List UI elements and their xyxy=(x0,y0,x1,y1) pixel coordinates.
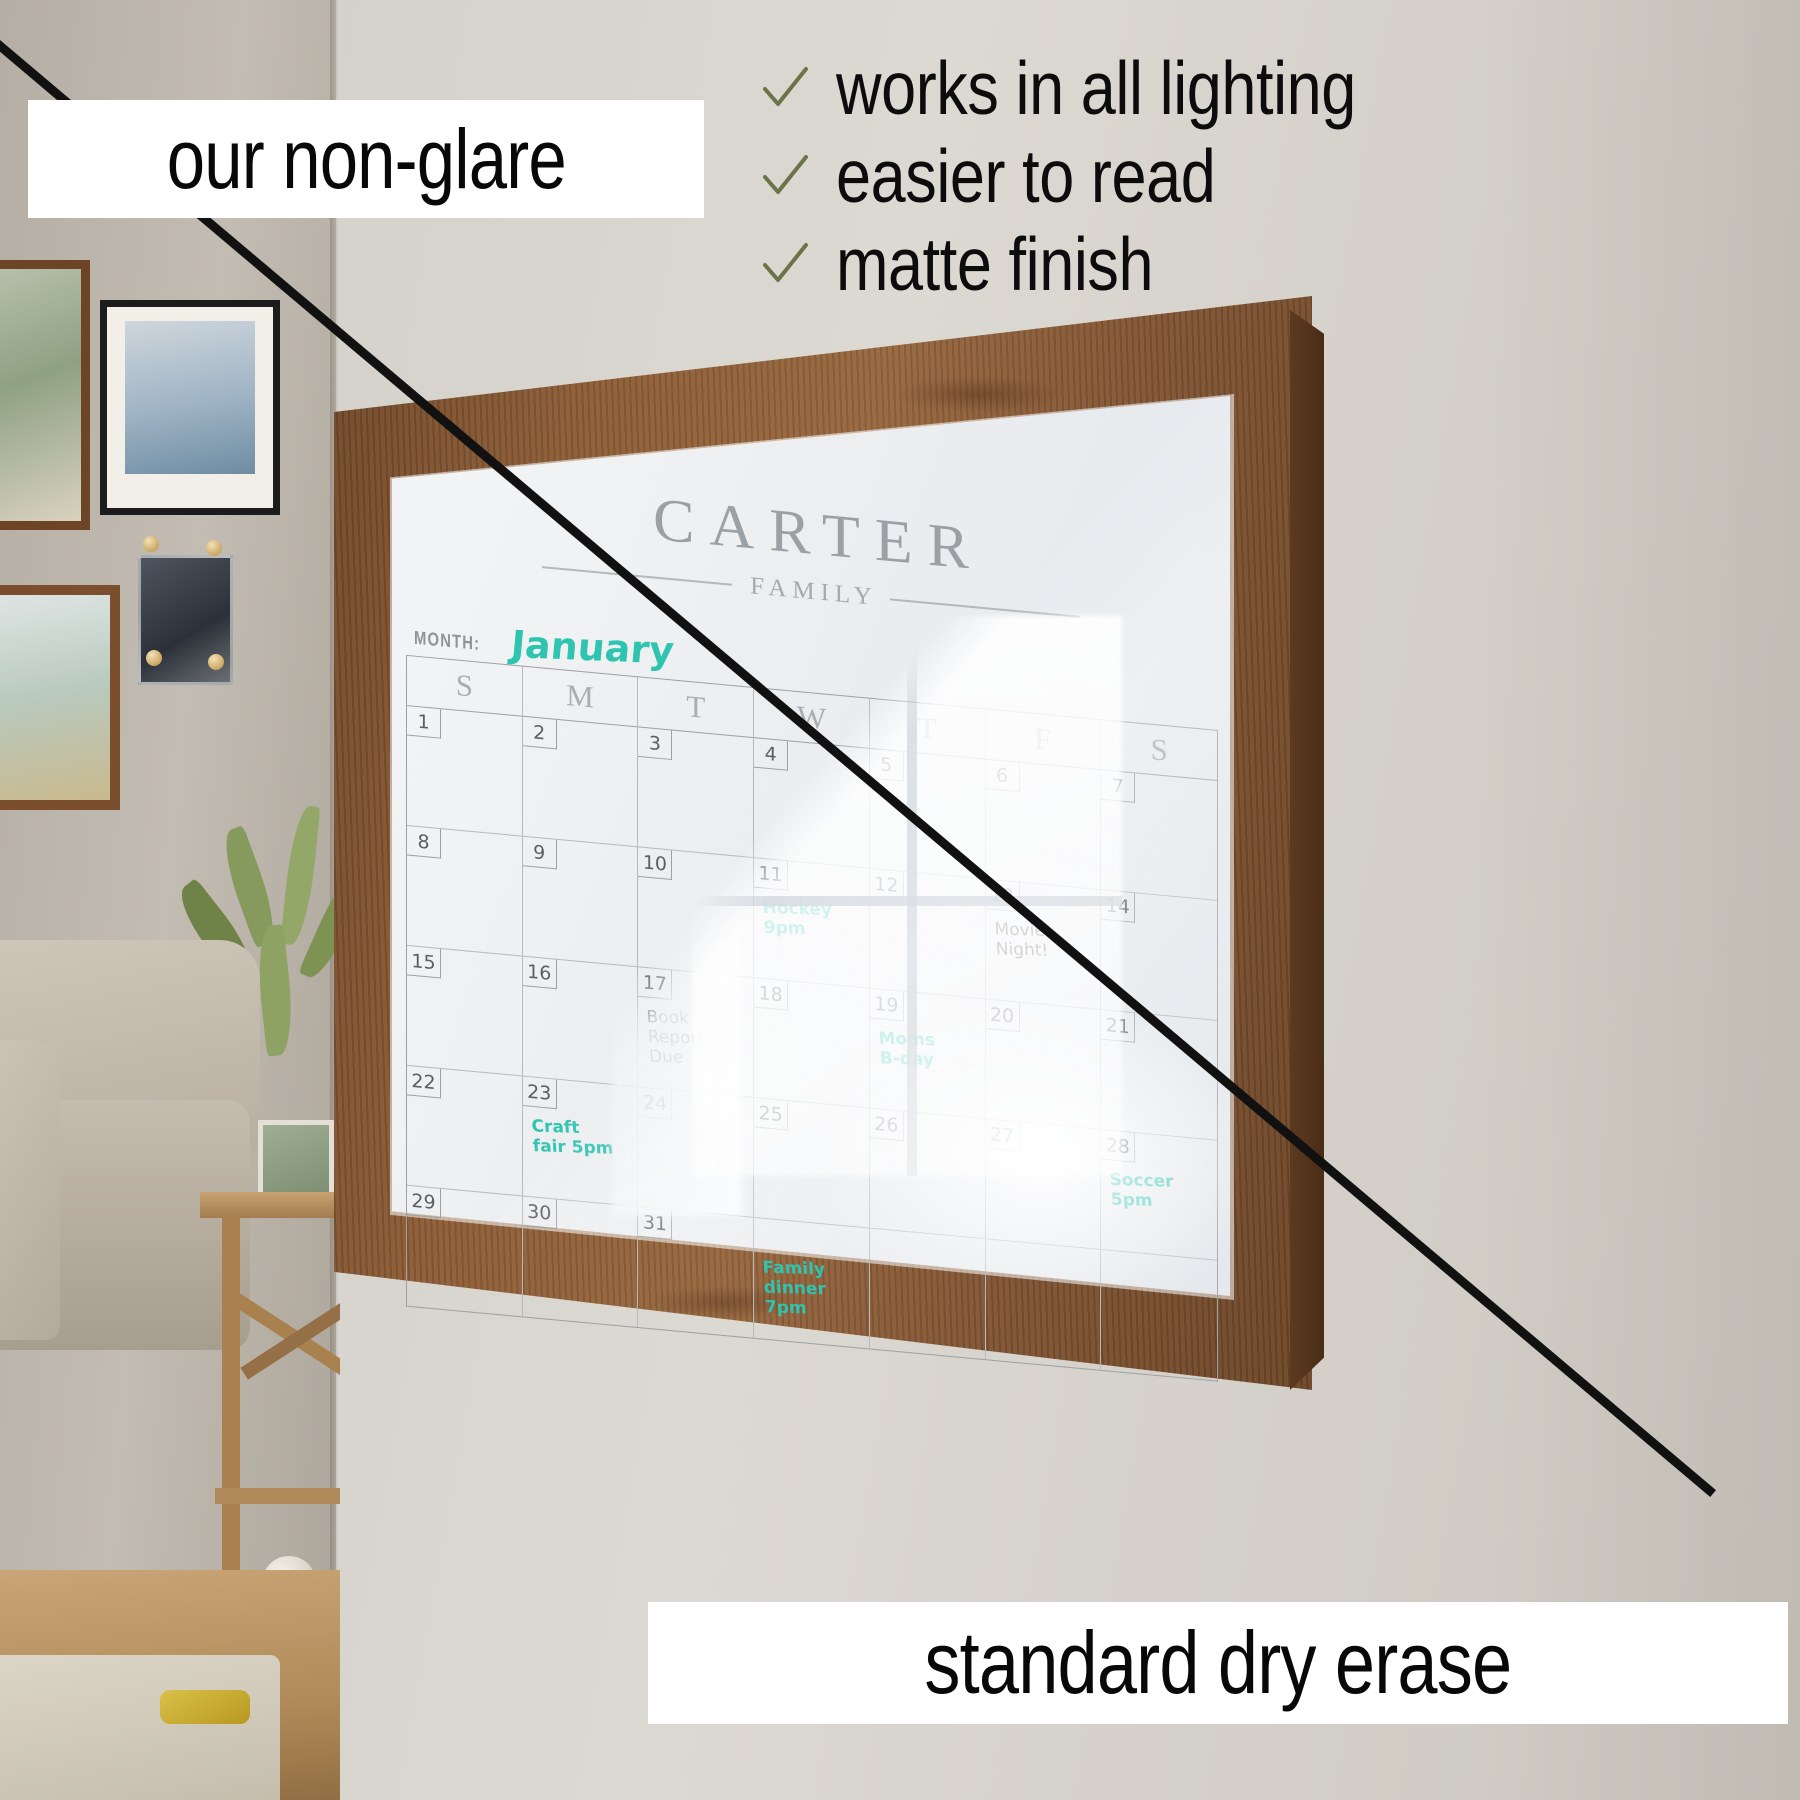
calendar-day-cell[interactable]: 20 xyxy=(986,999,1102,1130)
day-number: 1 xyxy=(407,706,441,739)
day-number: 31 xyxy=(638,1207,672,1240)
calendar-day-cell[interactable]: 24 xyxy=(638,1087,754,1218)
calendar-day-cell[interactable]: 9 xyxy=(523,837,639,968)
calendar-day-cell[interactable]: 12 xyxy=(870,869,986,1000)
brand-header: CARTER FAMILY xyxy=(392,465,1230,645)
day-number: 8 xyxy=(407,826,441,859)
check-icon xyxy=(760,239,810,289)
day-number: 2 xyxy=(523,717,557,750)
day-number: 19 xyxy=(870,989,904,1022)
calendar-day-cell[interactable]: 4 xyxy=(754,738,870,869)
handwritten-event-note: Craftfair 5pm xyxy=(531,1117,636,1160)
calendar-day-cell[interactable]: 28Soccer5pm xyxy=(1101,1130,1217,1261)
month-value[interactable]: January xyxy=(509,626,675,670)
calendar-day-cell[interactable]: 18 xyxy=(754,978,870,1109)
calendar-day-cell[interactable] xyxy=(986,1239,1102,1370)
feature-bullet-text: matte finish xyxy=(836,221,1153,307)
day-number: 18 xyxy=(754,978,788,1011)
calendar-day-cell[interactable]: 27 xyxy=(986,1119,1102,1250)
non-glare-label: our non-glare xyxy=(28,100,704,218)
handwritten-event-note: Book ReportDue xyxy=(646,1007,752,1070)
calendar-day-cell[interactable]: 8 xyxy=(407,826,523,957)
calendar-grid: SMTWTFS 1234567891011Hockey9pm1213Movie … xyxy=(406,655,1218,1382)
calendar-day-cell[interactable]: 25 xyxy=(754,1098,870,1229)
handwritten-event-note: Hockey9pm xyxy=(762,898,867,941)
marketing-image: CARTER FAMILY MONTH: January SMTWTFS 123… xyxy=(0,0,1800,1800)
calendar-day-cell[interactable]: 26 xyxy=(870,1109,986,1240)
calendar-day-cell[interactable]: 29 xyxy=(407,1186,523,1317)
day-number: 20 xyxy=(986,999,1020,1032)
calendar-day-cell[interactable]: 16 xyxy=(523,957,639,1088)
day-number: 27 xyxy=(986,1119,1020,1152)
day-number: 29 xyxy=(407,1186,441,1219)
day-number: 17 xyxy=(638,967,672,1000)
family-subtitle: FAMILY xyxy=(744,572,877,612)
day-number: 4 xyxy=(754,738,788,771)
calendar-day-cell[interactable]: 7 xyxy=(1101,770,1217,901)
calendar-day-cell[interactable]: 30 xyxy=(523,1196,639,1327)
day-number: 16 xyxy=(523,957,557,990)
day-number: 9 xyxy=(523,837,557,870)
calendar-day-cell[interactable]: 23Craftfair 5pm xyxy=(523,1077,639,1208)
feature-bullet-text: easier to read xyxy=(836,133,1215,219)
calendar-day-cell[interactable]: 14 xyxy=(1101,890,1217,1021)
standard-dry-erase-label: standard dry erase xyxy=(648,1602,1788,1724)
calendar-content: CARTER FAMILY MONTH: January SMTWTFS 123… xyxy=(392,396,1230,1358)
calendar-day-cell[interactable]: 15 xyxy=(407,946,523,1077)
feature-bullet: works in all lighting xyxy=(760,44,1790,132)
calendar-day-cell[interactable]: 11Hockey9pm xyxy=(754,858,870,989)
day-number: 6 xyxy=(986,760,1020,793)
feature-bullet-list: works in all lightingeasier to readmatte… xyxy=(760,44,1790,308)
day-number: 23 xyxy=(523,1077,557,1110)
calendar-day-cell[interactable]: 3 xyxy=(638,727,754,858)
handwritten-event-note: MomsB-day xyxy=(878,1029,983,1072)
non-glare-label-text: our non-glare xyxy=(166,111,565,208)
calendar-day-cell[interactable]: Familydinner 7pm xyxy=(754,1218,870,1349)
day-number: 11 xyxy=(754,858,788,891)
calendar-day-cell[interactable]: 1 xyxy=(407,706,523,837)
day-number: 5 xyxy=(870,749,904,782)
calendar-day-cell[interactable]: 22 xyxy=(407,1066,523,1197)
day-number: 10 xyxy=(638,847,672,880)
feature-bullet: easier to read xyxy=(760,132,1790,220)
calendar-day-cell[interactable] xyxy=(870,1229,986,1360)
standard-dry-erase-label-text: standard dry erase xyxy=(925,1612,1512,1714)
month-label: MONTH: xyxy=(414,628,480,656)
day-number: 14 xyxy=(1101,890,1135,923)
rule-right xyxy=(890,598,1080,618)
calendar-day-cell[interactable]: 10 xyxy=(638,847,754,978)
day-number: 26 xyxy=(870,1109,904,1142)
handwritten-event-note: Soccer5pm xyxy=(1109,1170,1215,1213)
day-number: 30 xyxy=(523,1196,557,1229)
day-number: 12 xyxy=(870,869,904,902)
calendar-day-cell[interactable]: 17Book ReportDue xyxy=(638,967,754,1098)
check-icon xyxy=(760,151,810,201)
calendar-cells: 1234567891011Hockey9pm1213Movie Night!14… xyxy=(406,706,1218,1382)
calendar-day-cell[interactable]: 31 xyxy=(638,1207,754,1338)
handwritten-event-note: Familydinner 7pm xyxy=(762,1258,868,1321)
day-number: 3 xyxy=(638,727,672,760)
day-number: 21 xyxy=(1101,1010,1135,1043)
calendar-day-cell[interactable]: 19MomsB-day xyxy=(870,989,986,1120)
calendar-day-cell[interactable]: 6 xyxy=(986,760,1102,891)
check-icon xyxy=(760,63,810,113)
day-number: 25 xyxy=(754,1098,788,1131)
frame-depth-edge xyxy=(1290,310,1324,1390)
day-number: 15 xyxy=(407,946,441,979)
calendar-day-cell[interactable] xyxy=(1101,1250,1217,1381)
feature-bullet: matte finish xyxy=(760,220,1790,308)
day-number: 7 xyxy=(1101,770,1135,803)
day-number: 28 xyxy=(1101,1130,1135,1163)
feature-bullet-text: works in all lighting xyxy=(836,45,1356,131)
calendar-day-cell[interactable]: 2 xyxy=(523,717,639,848)
day-number: 24 xyxy=(638,1087,672,1120)
day-number: 22 xyxy=(407,1066,441,1099)
